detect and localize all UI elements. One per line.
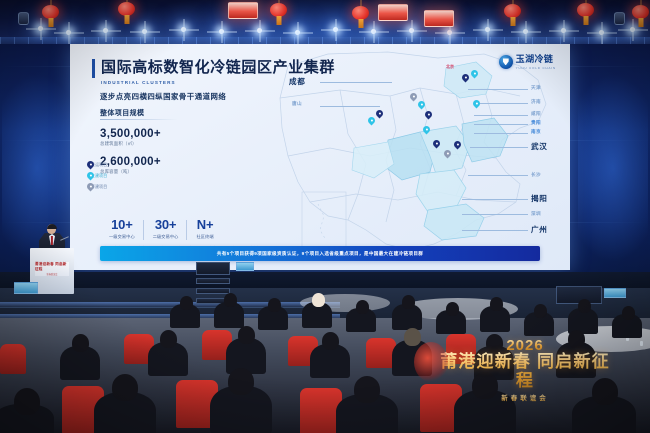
stage-light <box>333 27 338 32</box>
front-monitor-lit <box>14 282 38 294</box>
banquet-chair <box>446 334 476 364</box>
conference-photo-scene: 国际高标数智化冷链园区产业集群 INDUSTRIAL CLUSTERS 逐步点亮… <box>0 0 650 433</box>
red-panel-light <box>424 10 454 27</box>
stage-monitor <box>196 288 230 294</box>
legend-pin-operating <box>87 161 94 170</box>
slide-title: 国际高标数智化冷链园区产业集群 <box>101 58 335 77</box>
stage-light <box>66 30 71 35</box>
attendee-head <box>72 334 89 352</box>
map-pin-building <box>423 126 430 135</box>
attendee-head <box>578 299 591 313</box>
map-pin-operating <box>425 111 432 120</box>
map-leader-line <box>320 82 392 83</box>
stage-light <box>142 29 147 34</box>
kpi-caption: 二级交易中心 <box>153 234 179 240</box>
map-label-jieyang: 揭阳 <box>531 193 547 204</box>
stage-light <box>181 27 186 32</box>
kpi-number: 30+ <box>153 218 179 232</box>
red-lantern <box>270 3 287 17</box>
stage-light <box>630 27 635 32</box>
audience-area <box>0 300 650 433</box>
podium-sign-line1: 莆港迎新春 同启新征程 <box>35 262 69 272</box>
banner-text: 共有5个项目获得9项国家级资质认证，9个项目入选省级重点项目，是中国最大在建冷链… <box>217 251 423 257</box>
attendee-head <box>534 304 547 318</box>
map-label-shenzhen: 深圳 <box>531 211 541 217</box>
company-logo: 玉湖冷链 YUHU COLD CHAIN <box>499 55 556 70</box>
map-leader-line <box>474 115 528 116</box>
attendee-head <box>354 376 380 403</box>
stage-monitor <box>196 278 230 284</box>
slide-bottom-banner: 共有5个项目获得9项国家级资质认证，9个项目入选省级重点项目，是中国最大在建冷链… <box>100 246 540 261</box>
red-lantern <box>352 6 369 20</box>
stage-light <box>38 26 43 31</box>
kpi-item: 10+ 一级交易中心 <box>100 218 144 240</box>
kpi-item: N+ 社区终端 <box>187 218 222 240</box>
legend-row: 筹建项目 <box>87 184 107 190</box>
map-leader-line <box>470 147 528 148</box>
stage-light <box>257 28 262 33</box>
red-panel-light <box>228 2 258 19</box>
stage-light <box>103 28 108 33</box>
legend-pin-building <box>87 172 94 181</box>
speaker-tie <box>51 236 53 245</box>
map-label-guangzhou: 广州 <box>531 224 547 235</box>
attendee-head <box>490 297 503 311</box>
map-pin-building <box>473 100 480 109</box>
podium-sign-line2: 新春联谊会 <box>47 272 58 276</box>
attendee-head <box>224 293 237 307</box>
attendee-head <box>568 330 585 348</box>
map-leader-line <box>468 175 528 176</box>
scale-divider <box>100 119 178 120</box>
attendee-head <box>402 295 415 309</box>
map-leader-line <box>462 230 528 231</box>
logo-text-en: YUHU COLD CHAIN <box>516 66 556 70</box>
yuhu-logo-icon <box>499 55 513 69</box>
attendee-head <box>446 302 459 316</box>
map-label-guiyang: 贵阳 <box>531 120 541 126</box>
map-leader-line <box>462 199 528 200</box>
banquet-chair <box>0 344 26 374</box>
attendee-head <box>238 326 255 344</box>
map-label-chengdu: 成都 <box>289 76 305 87</box>
attendee-head <box>622 306 635 320</box>
kpi-item: 30+ 二级交易中心 <box>144 218 188 240</box>
red-lantern <box>118 2 135 16</box>
map-leader-line <box>474 124 528 125</box>
attendee-head <box>312 293 325 307</box>
map-pin-operating <box>376 110 383 119</box>
stage-light <box>219 29 224 34</box>
map-leader-line <box>474 133 528 134</box>
map-label-xianyang: 咸阳 <box>531 111 541 117</box>
attendee-head <box>486 334 503 352</box>
red-lantern <box>632 5 649 19</box>
speaker-hair <box>47 224 57 229</box>
map-pin-planned <box>444 150 451 159</box>
stage-monitor <box>196 262 230 275</box>
moving-head-fixture <box>18 12 29 25</box>
kpi-number: N+ <box>196 218 213 232</box>
map-leader-line <box>320 106 380 107</box>
attendee-head <box>268 298 281 312</box>
map-pin-building <box>418 101 425 110</box>
podium-sign: 莆港迎新春 同启新征程 新春联谊会 <box>35 262 69 276</box>
stage-light <box>485 27 490 32</box>
map-label-tianjin: 天津 <box>531 85 541 91</box>
title-accent-bar <box>92 59 95 78</box>
map-pin-operating <box>462 74 469 83</box>
sound-desk-screen <box>604 288 626 298</box>
map-pin-building <box>368 117 375 126</box>
attendee-head <box>228 368 254 395</box>
attendee-head <box>592 378 618 405</box>
map-pin-operating <box>433 140 440 149</box>
right-wall-glow <box>578 44 648 292</box>
stage-light <box>561 28 566 33</box>
attendee-head-cap <box>404 328 421 346</box>
ceiling-truss-area <box>0 0 650 46</box>
map-leader-line <box>462 214 528 215</box>
attendee-head <box>322 332 339 350</box>
stage-light <box>409 28 414 33</box>
metric-caption: 总建筑面积（㎡） <box>100 141 137 147</box>
scale-label: 整体项目规模 <box>100 108 144 118</box>
legend-row: 在建项目 <box>87 173 107 179</box>
attendee-head <box>112 374 138 401</box>
stage-light <box>599 30 604 35</box>
logo-text-cn: 玉湖冷链 <box>516 55 556 64</box>
red-panel-light <box>378 4 408 21</box>
stage-light <box>295 30 300 35</box>
metric-value: 2,600,000+ <box>100 156 161 168</box>
legend-pin-planned <box>87 183 94 192</box>
attendee-head <box>472 372 498 399</box>
presentation-slide: 国际高标数智化冷链园区产业集群 INDUSTRIAL CLUSTERS 逐步点亮… <box>70 44 570 270</box>
stage-light <box>447 30 452 35</box>
map-legend: 投运项目 在建项目 筹建项目 <box>87 162 107 195</box>
attendee-head <box>14 388 40 415</box>
attendee-head <box>160 330 177 348</box>
attendee-head <box>180 296 193 310</box>
map-pin-building <box>471 70 478 79</box>
map-leader-line <box>474 103 528 104</box>
water-glass <box>640 341 643 346</box>
map-label-beijing: 北京 <box>446 64 454 70</box>
moving-head-fixture <box>614 12 625 25</box>
map-pin-operating <box>454 141 461 150</box>
red-lantern <box>42 5 59 19</box>
map-label-jinan: 济南 <box>531 99 541 105</box>
map-label-wuhan: 武汉 <box>531 141 547 152</box>
kpi-caption: 社区终端 <box>196 234 213 240</box>
kpi-number: 10+ <box>109 218 135 232</box>
attendee-head <box>356 300 369 314</box>
map-label-changsha: 长沙 <box>531 172 541 178</box>
stage-monitor-lit <box>236 262 254 271</box>
map-label-nanjing: 南京 <box>531 129 541 135</box>
kpi-caption: 一级交易中心 <box>109 234 135 240</box>
legend-row: 投运项目 <box>87 162 107 168</box>
kpi-row: 10+ 一级交易中心 30+ 二级交易中心 N+ 社区终端 <box>100 218 223 240</box>
stage-light <box>371 29 376 34</box>
red-lantern <box>504 4 521 18</box>
map-label-tangshan: 唐山 <box>292 101 302 107</box>
red-lantern <box>577 3 594 17</box>
map-pin-planned <box>410 93 417 102</box>
stage-light <box>523 29 528 34</box>
slide-section-line: 逐步点亮四横四纵国家骨干通道网络 <box>100 91 226 102</box>
metric-value: 3,500,000+ <box>100 128 161 140</box>
map-leader-line <box>468 89 528 90</box>
